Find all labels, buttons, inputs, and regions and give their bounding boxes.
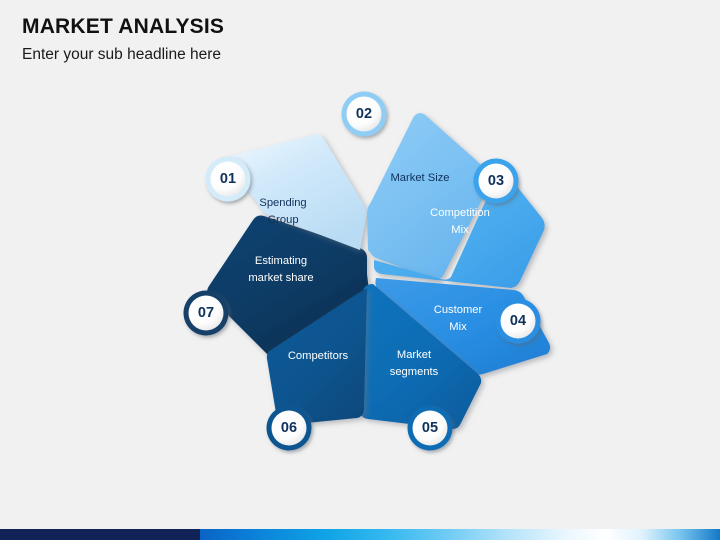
badge-03[interactable]: 03	[474, 159, 519, 204]
badge-06[interactable]: 06	[267, 406, 312, 451]
footer-bar-gradient-segment	[200, 529, 720, 540]
badge-01[interactable]: 01	[206, 157, 251, 202]
footer-accent-bar	[0, 529, 720, 540]
slide-canvas: MARKET ANALYSIS Enter your sub headline …	[0, 0, 720, 540]
badge-05[interactable]: 05	[408, 406, 453, 451]
market-analysis-pinwheel-diagram: Estimating market share Spending Group M…	[150, 78, 580, 458]
badge-04[interactable]: 04	[496, 299, 541, 344]
page-title: MARKET ANALYSIS	[22, 14, 622, 40]
badge-02[interactable]: 02	[342, 92, 387, 137]
page-subtitle: Enter your sub headline here	[22, 44, 622, 66]
footer-bar-dark-segment	[0, 529, 200, 540]
badge-07[interactable]: 07	[184, 291, 229, 336]
header: MARKET ANALYSIS Enter your sub headline …	[22, 14, 622, 66]
